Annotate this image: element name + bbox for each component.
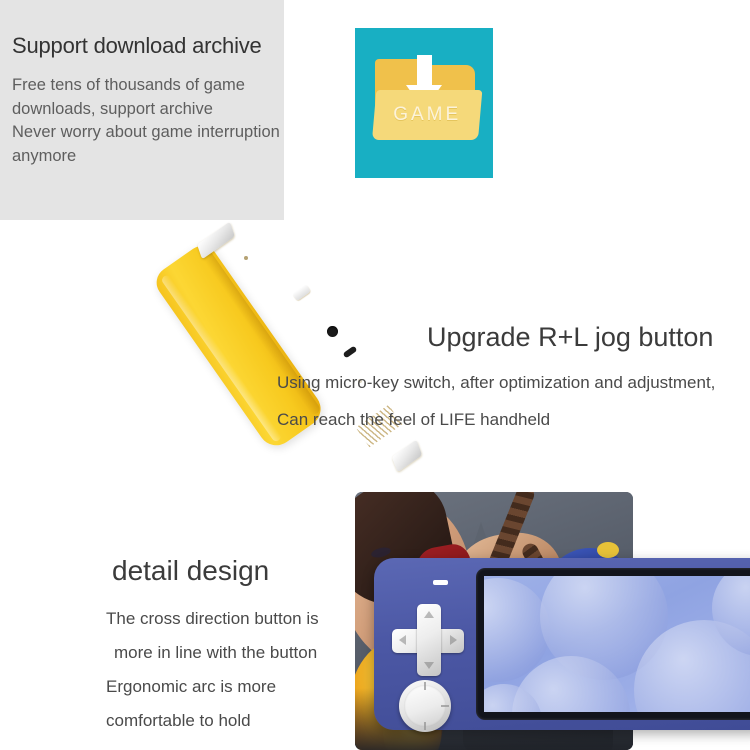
d-pad-down-arrow-icon: [424, 662, 434, 669]
detail-design-body: The cross direction button is more in li…: [106, 602, 366, 738]
product-feature-page: Support download archive Free tens of th…: [0, 0, 750, 750]
speaker-slot-icon: [433, 580, 448, 585]
jog-button-body-line-1: Using micro-key switch, after optimizati…: [277, 373, 715, 393]
detail-design-heading: detail design: [112, 555, 269, 587]
download-archive-body-line-2: downloads, support archive: [12, 98, 302, 122]
power-button-icon: [292, 284, 311, 301]
analog-stick-icon: [399, 680, 451, 732]
download-archive-heading: Support download archive: [12, 33, 292, 59]
analog-stick-notch-bottom: [424, 722, 426, 730]
detail-design-body-line-2: more in line with the button: [106, 636, 366, 670]
download-archive-body-line-3: Never worry about game interruption: [12, 121, 302, 145]
d-pad-right-arrow-icon: [450, 635, 457, 645]
console-screen: [484, 576, 750, 712]
shoulder-button-right-icon: [392, 440, 422, 473]
analog-stick-cap: [404, 685, 446, 727]
detail-design-body-line-4: comfortable to hold: [106, 704, 366, 738]
usb-c-port-icon: [343, 346, 358, 359]
game-download-folder-icon: GAME: [355, 28, 493, 178]
d-pad-left-arrow-icon: [399, 635, 406, 645]
download-archive-body-line-4: anymore: [12, 145, 302, 169]
d-pad-up-arrow-icon: [424, 611, 434, 618]
jog-button-heading: Upgrade R+L jog button: [427, 322, 713, 353]
download-archive-body: Free tens of thousands of game downloads…: [12, 74, 302, 168]
yellow-console-highlight: [160, 274, 282, 443]
folder-front-shape: GAME: [372, 90, 482, 140]
analog-stick-notch-top: [424, 682, 426, 690]
blue-console-image: [374, 558, 750, 730]
headphone-jack-icon: [327, 326, 338, 337]
console-screen-bezel: [476, 568, 750, 720]
d-pad-icon: [392, 604, 464, 676]
folder-label-text: GAME: [374, 90, 480, 140]
detail-design-body-line-1: The cross direction button is: [106, 602, 366, 636]
detail-design-body-line-3: Ergonomic arc is more: [106, 670, 366, 704]
screw-pin-icon: [244, 256, 248, 260]
artwork-helmet-crest: [597, 542, 619, 558]
jog-button-body-line-2: Can reach the feel of LIFE handheld: [277, 410, 550, 430]
download-archive-body-line-1: Free tens of thousands of game: [12, 74, 302, 98]
yellow-console-image: [183, 232, 433, 467]
analog-stick-notch-right: [441, 705, 449, 707]
